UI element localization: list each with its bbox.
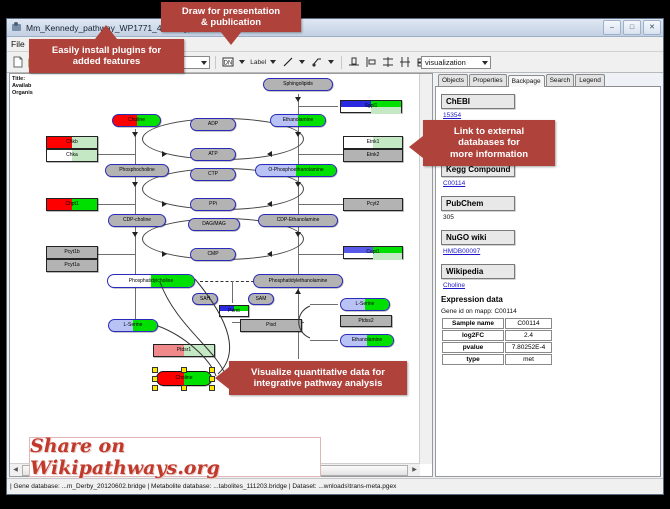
node-sah[interactable]: SAH	[192, 293, 218, 305]
edge-pemt-stub	[232, 281, 233, 303]
cell-key: log2FC	[442, 330, 504, 341]
node-label: CTP	[208, 172, 218, 177]
node-label: SAM	[256, 297, 267, 302]
node-cept1[interactable]: Cept1	[343, 246, 403, 259]
db-link-nugo[interactable]: HMDB00097	[443, 248, 480, 255]
db-value-pubchem: 305	[443, 214, 655, 221]
interaction-chevron-icon[interactable]	[328, 60, 334, 64]
visualization-combo[interactable]: visualization	[421, 56, 491, 69]
node-label: Pemt	[228, 309, 240, 314]
callout-links-arrow-icon	[409, 136, 423, 158]
arrow-into-cmp-left	[162, 251, 167, 257]
node-phosphatidylethanolamine[interactable]: Phosphatidylethanolamine	[253, 274, 343, 288]
selection-handle-sw[interactable]	[152, 385, 158, 391]
arrow-phosphocholine-to-cdpcholine	[132, 182, 138, 187]
distribute-horizontal-icon[interactable]	[398, 55, 412, 69]
share-text: Share on Wikipathways.org	[30, 435, 320, 479]
selection-handle-n[interactable]	[181, 367, 187, 373]
node-choline-selected[interactable]: Choline	[156, 371, 212, 386]
node-label: Ethanolamine	[352, 338, 383, 343]
node-cdp-choline[interactable]: CDP-choline	[108, 214, 166, 227]
node-label: Pcyt1a	[64, 263, 79, 268]
node-pisd[interactable]: Pisd	[240, 319, 302, 332]
label-tool-label: Label	[250, 59, 266, 66]
scroll-right-icon[interactable]: ▶	[409, 465, 420, 476]
pathway-availability-label: Availab	[12, 83, 33, 90]
side-panel-tabs: Objects Properties Backpage Search Legen…	[435, 73, 661, 87]
edge-pcyt1-to-spine	[98, 254, 136, 255]
node-label: Ethanolamine	[283, 118, 314, 123]
expression-data-title: Expression data	[441, 295, 655, 304]
edge-sgpl1-to-spine	[298, 106, 338, 107]
node-label: Phosphatidylcholine	[129, 279, 173, 284]
callout-plugins-arrow-icon	[95, 25, 117, 39]
cell-key: pvalue	[442, 342, 504, 353]
status-bar: | Gene database: ...m_Derby_20120602.bri…	[7, 478, 663, 494]
node-ethanolamine-top[interactable]: Ethanolamine	[270, 114, 326, 127]
node-label: Pisd	[266, 323, 276, 328]
toolbar-separator-2	[215, 56, 216, 69]
node-label: Pcyt2	[367, 202, 380, 207]
datanode-icon[interactable]: DN	[221, 55, 235, 69]
node-ptdss2[interactable]: Ptdss2	[340, 315, 392, 327]
node-pcyt1a[interactable]: Pcyt1a	[46, 259, 98, 272]
arrow-into-ppi-right	[267, 201, 272, 207]
app-icon	[11, 22, 22, 33]
node-label: Pcyt1b	[64, 250, 79, 255]
node-atp[interactable]: ATP	[190, 148, 236, 161]
node-label: Choline	[176, 376, 193, 381]
callout-share: Share on Wikipathways.org	[29, 437, 321, 477]
node-label: Chka	[66, 153, 78, 158]
arrow-into-cmp-right	[267, 251, 272, 257]
status-bar-text: | Gene database: ...m_Derby_20120602.bri…	[10, 483, 396, 490]
node-etnk2[interactable]: Etnk2	[343, 149, 403, 162]
db-header-pubchem: PubChem	[441, 196, 515, 211]
node-label: CMP	[207, 252, 218, 257]
arrow-ophospho-to-cdpetha	[295, 182, 301, 187]
db-value-wikipedia: Choline	[443, 282, 655, 289]
selection-handle-nw[interactable]	[152, 367, 158, 373]
node-label: Cept1	[366, 250, 379, 255]
arrow-choline-to-phosphocholine	[132, 132, 138, 137]
pathway-title-label: Title:	[12, 76, 33, 83]
node-label: PPi	[209, 202, 217, 207]
node-ppi[interactable]: PPi	[190, 198, 236, 211]
edge-pcyt2-to-spine	[298, 204, 343, 205]
node-label: ADP	[208, 122, 218, 127]
pathway-info-text: Title: Availab Organis	[12, 76, 33, 97]
chevron-down-icon	[201, 61, 207, 65]
close-button[interactable]: ✕	[643, 20, 661, 35]
menu-file[interactable]: File	[11, 39, 25, 49]
tab-properties[interactable]: Properties	[469, 74, 507, 86]
node-phosphocholine[interactable]: Phosphocholine	[105, 164, 169, 177]
cell-key: Sample name	[442, 318, 504, 329]
node-label: Chkb	[66, 140, 78, 145]
node-sgpl1[interactable]: Sgpl1	[340, 100, 402, 113]
cell-key: type	[442, 354, 504, 365]
node-sam[interactable]: SAM	[248, 293, 274, 305]
node-label: Ptdss2	[358, 319, 373, 324]
db-link-kegg[interactable]: C00114	[443, 180, 465, 187]
edge-chpt1-to-spine	[98, 204, 136, 205]
node-phosphatidylcholine[interactable]: Phosphatidylcholine	[107, 274, 195, 288]
node-label: Phosphocholine	[119, 168, 155, 173]
edge-lserine2-line	[310, 304, 338, 305]
arrow-into-atp-left	[162, 151, 167, 157]
selection-handle-w[interactable]	[152, 376, 158, 382]
edge-choline-spine	[135, 129, 136, 329]
table-row: log2FC 2.4	[442, 330, 552, 341]
arrow-into-atp-right	[267, 151, 272, 157]
arrow-cdpcholine-to-ptdcholine	[132, 232, 138, 237]
arrow-ethanolamine-to-ophospho	[295, 132, 301, 137]
edge-chk-to-spine	[98, 154, 136, 155]
db-header-wikipedia: Wikipedia	[441, 264, 515, 279]
node-pemt[interactable]: Pemt	[219, 305, 249, 317]
selection-handle-s[interactable]	[181, 385, 187, 391]
node-label: L-Serine	[124, 323, 143, 328]
node-o-phosphoethanolamine[interactable]: O-Phosphoethanolamine	[255, 164, 337, 177]
interaction-icon[interactable]	[310, 55, 324, 69]
node-label: L-Serine	[356, 302, 375, 307]
align-top-icon[interactable]	[347, 55, 361, 69]
node-pcyt2[interactable]: Pcyt2	[343, 198, 403, 211]
node-l-serine-right[interactable]: L-Serine	[340, 298, 390, 311]
tab-objects[interactable]: Objects	[438, 74, 468, 86]
edge-ethanolamine2-line	[310, 340, 338, 341]
node-label: ATP	[208, 152, 217, 157]
node-label: Etnk1	[367, 140, 380, 145]
svg-text:DN: DN	[224, 61, 233, 67]
callout-draw-arrow-icon	[220, 31, 242, 45]
cell-value: met	[505, 354, 552, 365]
node-label: SAH	[200, 297, 210, 302]
node-sphingolipids[interactable]: Sphingolipids	[263, 78, 333, 91]
node-label: Etnk2	[367, 153, 380, 158]
distribute-vertical-icon[interactable]	[381, 55, 395, 69]
node-etnk1[interactable]: Etnk1	[343, 136, 403, 149]
label-chevron-icon[interactable]	[270, 60, 276, 64]
window-controls: – □ ✕	[603, 20, 661, 35]
maximize-button[interactable]: □	[623, 20, 641, 35]
gene-id-on-mapp: Gene id on mapp: C00114	[441, 308, 655, 315]
arrow-sphingolipids-to-ethanolamine	[295, 97, 301, 102]
cell-value: C00114	[505, 318, 552, 329]
node-label: CDP-choline	[123, 218, 151, 223]
visualization-value: visualization	[425, 58, 466, 67]
node-pcyt1b[interactable]: Pcyt1b	[46, 246, 98, 259]
align-left-icon[interactable]	[364, 55, 378, 69]
node-label: Ptdsr1	[177, 348, 191, 353]
db-link-wikipedia[interactable]: Choline	[443, 282, 465, 289]
edge-etnk-to-spine	[298, 154, 343, 155]
db-value-chebi: 15354	[443, 112, 655, 119]
callout-plugins: Easily install plugins for added feature…	[29, 39, 184, 73]
node-label: O-Phosphoethanolamine	[268, 168, 323, 173]
datanode-chevron-icon[interactable]	[239, 60, 245, 64]
minimize-button[interactable]: –	[603, 20, 621, 35]
pathway-canvas[interactable]: Title: Availab Organis	[10, 74, 420, 464]
db-link-chebi[interactable]: 15354	[443, 112, 461, 119]
node-chpt1[interactable]: Chpt1	[46, 198, 98, 211]
node-label: DAG/MAG	[202, 222, 226, 227]
node-ctp[interactable]: CTP	[190, 168, 236, 181]
node-label: Chpt1	[65, 202, 78, 207]
db-header-nugo-wiki: NuGO wiki	[441, 230, 515, 245]
chevron-down-icon	[482, 61, 488, 65]
callout-draw: Draw for presentation & publication	[161, 2, 301, 32]
node-label: Sphingolipids	[283, 82, 313, 87]
line-chevron-icon[interactable]	[299, 60, 305, 64]
node-dag-mag[interactable]: DAG/MAG	[188, 218, 240, 231]
db-value-kegg-compound: C00114	[443, 180, 655, 187]
pathway-canvas-pane[interactable]: Title: Availab Organis	[9, 73, 433, 477]
table-row: type met	[442, 354, 552, 365]
node-chka[interactable]: Chka	[46, 149, 98, 162]
node-chkb[interactable]: Chkb	[46, 136, 98, 149]
arrow-into-ppi-left	[162, 201, 167, 207]
db-value-nugo-wiki: HMDB00097	[443, 248, 655, 255]
node-l-serine-left[interactable]: L-Serine	[108, 319, 158, 332]
node-cmp[interactable]: CMP	[190, 248, 236, 261]
arrow-cdpetha-to-ptdetha	[295, 232, 301, 237]
toolbar-separator-3	[341, 56, 342, 69]
expression-data-table: Sample name C00114 log2FC 2.4 pvalue 7.8…	[441, 317, 553, 366]
scroll-left-icon[interactable]: ◀	[10, 465, 21, 476]
node-ethanolamine-right[interactable]: Ethanolamine	[340, 334, 394, 347]
main-split: Title: Availab Organis	[7, 71, 663, 477]
table-row: pvalue 7.80252E-4	[442, 342, 552, 353]
node-ptdsr1[interactable]: Ptdsr1	[153, 344, 215, 357]
cell-value: 7.80252E-4	[505, 342, 552, 353]
cell-value: 2.4	[505, 330, 552, 341]
callout-links: Link to external databases for more info…	[423, 120, 555, 166]
tab-legend[interactable]: Legend	[575, 74, 605, 86]
tab-search[interactable]: Search	[546, 74, 575, 86]
line-icon[interactable]	[281, 55, 295, 69]
db-header-chebi: ChEBI	[441, 94, 515, 109]
node-label: Sgpl1	[365, 104, 378, 109]
edge-cept1-to-spine	[298, 254, 343, 255]
new-file-icon[interactable]	[11, 55, 25, 69]
pathway-organism-label: Organis	[12, 90, 33, 97]
application-window: Mm_Kennedy_pathway_WP1771_45176.gpml – □…	[6, 18, 664, 495]
table-row: Sample name C00114	[442, 318, 552, 329]
node-label: Choline	[128, 118, 145, 123]
callout-visualize: Visualize quantitative data for integrat…	[229, 361, 407, 395]
node-label: CDP-Ethanolamine	[277, 218, 320, 223]
node-label: Phosphatidylethanolamine	[269, 279, 328, 284]
tab-backpage[interactable]: Backpage	[508, 75, 545, 87]
node-adp[interactable]: ADP	[190, 118, 236, 131]
callout-visualize-arrow-icon	[215, 367, 229, 389]
arrow-up-to-ptdetha	[295, 289, 301, 294]
node-cdp-ethanolamine[interactable]: CDP-Ethanolamine	[258, 214, 338, 227]
node-choline-top[interactable]: Choline	[112, 114, 161, 127]
